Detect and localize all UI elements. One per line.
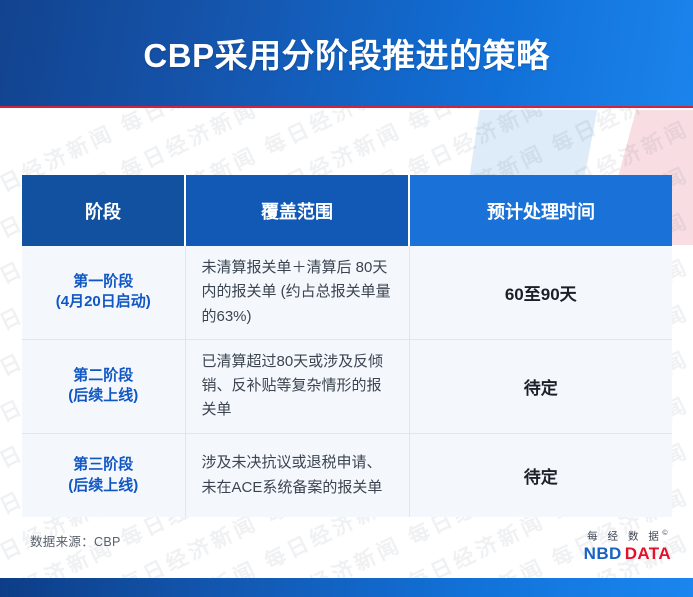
brand-logo-en: NBDDATA [584,545,671,562]
header-accent-rule [0,106,693,108]
cell-time: 待定 [409,339,672,433]
registered-mark-icon: © [662,530,667,537]
cell-scope: 涉及未决抗议或退税申请、未在ACE系统备案的报关单 [185,433,409,517]
page-title: CBP采用分阶段推进的策略 [143,29,549,77]
brand-cn-text: 每 经 数 据 [587,530,662,542]
phase-note: (后续上线) [28,386,179,407]
cell-time: 60至90天 [409,246,672,339]
phase-table-container: 阶段 覆盖范围 预计处理时间 第一阶段 (4月20日启动) 未清算报关单＋清算后… [22,175,672,517]
phase-name: 第二阶段 [73,367,133,384]
table-row: 第三阶段 (后续上线) 涉及未决抗议或退税申请、未在ACE系统备案的报关单 待定 [22,433,672,517]
phase-name: 第一阶段 [73,273,133,290]
infographic-canvas: 每日经济新闻 每日经济新闻 每日经济新闻 每日经济新闻 每日经济新闻 每日经济新… [0,0,693,597]
brand-logo: 每 经 数 据© NBDDATA [584,527,671,562]
table-row: 第一阶段 (4月20日启动) 未清算报关单＋清算后 80天内的报关单 (约占总报… [22,246,672,339]
cell-scope: 未清算报关单＋清算后 80天内的报关单 (约占总报关单量的63%) [185,246,409,339]
phase-table: 阶段 覆盖范围 预计处理时间 第一阶段 (4月20日启动) 未清算报关单＋清算后… [22,175,672,517]
cell-phase: 第三阶段 (后续上线) [22,433,185,517]
footer-accent-bar [0,578,693,597]
column-header-scope: 覆盖范围 [185,175,409,246]
table-body: 第一阶段 (4月20日启动) 未清算报关单＋清算后 80天内的报关单 (约占总报… [22,246,672,517]
phase-name: 第三阶段 [73,456,133,473]
phase-note: (后续上线) [28,476,179,497]
cell-phase: 第一阶段 (4月20日启动) [22,246,185,339]
cell-scope: 已清算超过80天或涉及反倾销、反补贴等复杂情形的报关单 [185,339,409,433]
table-header-row: 阶段 覆盖范围 预计处理时间 [22,175,672,246]
table-header: 阶段 覆盖范围 预计处理时间 [22,175,672,246]
source-note: 数据来源：CBP [30,531,121,550]
column-header-phase: 阶段 [22,175,185,246]
cell-time: 待定 [409,433,672,517]
brand-data-text: DATA [625,544,671,563]
brand-logo-cn: 每 经 数 据© [587,530,667,542]
brand-nbd-text: NBD [584,544,622,563]
table-row: 第二阶段 (后续上线) 已清算超过80天或涉及反倾销、反补贴等复杂情形的报关单 … [22,339,672,433]
cell-phase: 第二阶段 (后续上线) [22,339,185,433]
column-header-time: 预计处理时间 [409,175,672,246]
phase-note: (4月20日启动) [28,292,179,313]
header-banner: CBP采用分阶段推进的策略 [0,0,693,106]
